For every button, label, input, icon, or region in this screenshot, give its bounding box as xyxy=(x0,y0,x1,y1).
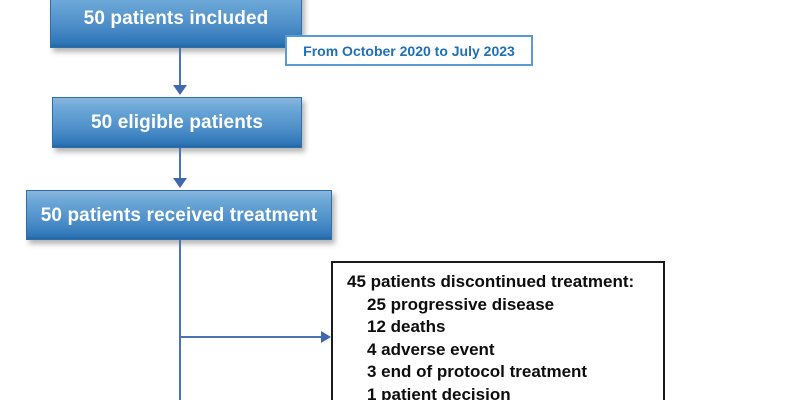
arrowhead-down-icon xyxy=(173,178,187,188)
node-patients-included[interactable]: 50 patients included xyxy=(50,0,302,48)
callout-enrollment-period[interactable]: From October 2020 to July 2023 xyxy=(285,35,533,66)
list-item: 1 patient decision xyxy=(367,384,663,400)
list-item: 3 end of protocol treatment xyxy=(367,361,663,384)
arrowhead-right-icon xyxy=(321,331,331,343)
discontinued-reason-list: 25 progressive disease 12 deaths 4 adver… xyxy=(347,294,663,400)
arrowhead-down-icon xyxy=(173,85,187,95)
discontinued-title: 45 patients discontinued treatment: xyxy=(347,271,663,294)
list-item: 12 deaths xyxy=(367,316,663,339)
node-patients-included-label: 50 patients included xyxy=(84,9,269,28)
node-patients-received-treatment-label: 50 patients received treatment xyxy=(41,206,318,225)
node-eligible-patients[interactable]: 50 eligible patients xyxy=(52,97,302,148)
node-patients-received-treatment[interactable]: 50 patients received treatment xyxy=(26,190,332,240)
connector-trunk-to-discontinued xyxy=(179,336,324,338)
connector-eligible-to-treated xyxy=(179,148,181,181)
box-discontinued-treatment[interactable]: 45 patients discontinued treatment: 25 p… xyxy=(331,261,665,400)
callout-enrollment-period-label: From October 2020 to July 2023 xyxy=(303,43,515,59)
list-item: 4 adverse event xyxy=(367,339,663,362)
connector-treated-trunk xyxy=(179,240,181,400)
node-eligible-patients-label: 50 eligible patients xyxy=(91,113,263,132)
connector-included-to-eligible xyxy=(179,48,181,88)
list-item: 25 progressive disease xyxy=(367,294,663,317)
flowchart-canvas: 50 patients included From October 2020 t… xyxy=(0,0,800,400)
